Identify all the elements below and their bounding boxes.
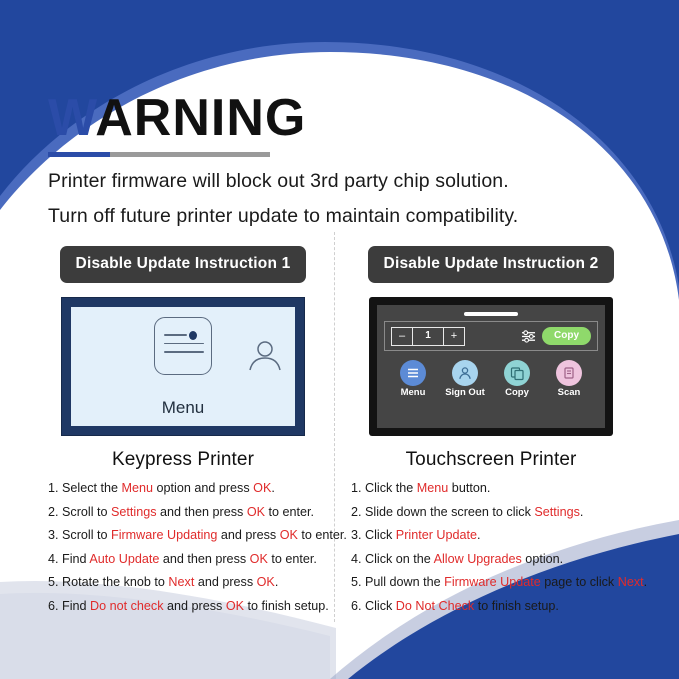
instruction-keyword: OK — [226, 599, 244, 613]
instruction-step: 5. Rotate the knob to Next and press OK. — [48, 576, 318, 589]
menu-lines — [164, 334, 204, 360]
instruction-keyword: OK — [257, 575, 275, 589]
instruction-text: 5. Pull down the — [351, 575, 444, 589]
instruction-keyword: OK — [247, 505, 265, 519]
instruction-step: 3. Scroll to Firmware Updating and press… — [48, 529, 318, 542]
instruction-step: 4. Find Auto Update and then press OK to… — [48, 553, 318, 566]
touchscreen-topbar: – 1 + — [384, 321, 598, 351]
instruction-keyword: Settings — [111, 505, 157, 519]
app-scan-label: Scan — [545, 388, 593, 398]
instruction-text: button. — [448, 481, 490, 495]
app-sign-out[interactable]: Sign Out — [441, 360, 489, 398]
sliders-icon[interactable] — [521, 329, 536, 343]
instruction-keyword: Allow Upgrades — [434, 552, 522, 566]
instruction-keyword: Next — [168, 575, 194, 589]
copy-pages-icon — [510, 366, 525, 381]
instruction-text: . — [580, 505, 584, 519]
instruction-text: to finish setup. — [474, 599, 559, 613]
scan-circle[interactable] — [556, 360, 582, 386]
app-copy[interactable]: Copy — [493, 360, 541, 398]
copy-count-stepper[interactable]: – 1 + — [391, 327, 465, 346]
instruction-keyword: Next — [618, 575, 644, 589]
keypress-screen: Menu — [71, 307, 295, 426]
instruction-text: page to click — [541, 575, 618, 589]
instruction-text: 1. Select the — [48, 481, 122, 495]
lead-line-1: Printer firmware will block out 3rd part… — [48, 170, 648, 193]
instruction-text: to enter. — [265, 505, 314, 519]
lead-line-2: Turn off future printer update to mainta… — [48, 205, 648, 228]
caption-keypress: Keypress Printer — [48, 449, 318, 471]
instruction-keyword: Settings — [534, 505, 580, 519]
app-menu-label: Menu — [389, 388, 437, 398]
grab-handle[interactable] — [464, 312, 518, 316]
hamburger-icon — [406, 367, 420, 379]
column-touchscreen: Disable Update Instruction 2 – 1 + — [351, 246, 631, 624]
instruction-text: and press — [217, 528, 279, 542]
instruction-text: 3. Click — [351, 528, 396, 542]
instruction-text: 2. Scroll to — [48, 505, 111, 519]
instruction-keyword: Firmware Update — [444, 575, 541, 589]
warning-poster: WARNING Printer firmware will block out … — [0, 0, 679, 679]
caption-touchscreen: Touchscreen Printer — [351, 449, 631, 471]
app-menu[interactable]: Menu — [389, 360, 437, 398]
instruction-text: 3. Scroll to — [48, 528, 111, 542]
instruction-text: option and press — [153, 481, 253, 495]
instruction-text: and press — [164, 599, 226, 613]
scan-icon — [562, 366, 576, 380]
instruction-step: 5. Pull down the Firmware Update page to… — [351, 576, 631, 589]
instruction-keyword: OK — [253, 481, 271, 495]
column-divider — [334, 232, 335, 622]
instruction-keyword: OK — [280, 528, 298, 542]
touchscreen-app-row: Menu Sign Out — [384, 360, 598, 398]
instruction-text: to enter. — [268, 552, 317, 566]
instruction-text: . — [275, 575, 279, 589]
instruction-step: 6. Click Do Not Check to finish setup. — [351, 600, 631, 613]
instruction-text: option. — [522, 552, 563, 566]
instruction-text: 5. Rotate the knob to — [48, 575, 168, 589]
keypress-printer-illustration: Menu — [61, 297, 305, 436]
page-title: WARNING — [48, 92, 306, 144]
steps-keypress: 1. Select the Menu option and press OK.2… — [48, 482, 318, 613]
column-keypress: Disable Update Instruction 1 Menu Keypre… — [48, 246, 318, 624]
person-icon — [458, 366, 472, 380]
instruction-step: 2. Scroll to Settings and then press OK … — [48, 506, 318, 519]
sign-out-circle[interactable] — [452, 360, 478, 386]
instruction-step: 6. Find Do not check and press OK to fin… — [48, 600, 318, 613]
instruction-text: . — [644, 575, 648, 589]
instruction-text: and then press — [157, 505, 247, 519]
instruction-text: 4. Find — [48, 552, 89, 566]
badge-instruction-2: Disable Update Instruction 2 — [368, 246, 615, 283]
instruction-text: . — [477, 528, 481, 542]
copy-circle[interactable] — [504, 360, 530, 386]
app-sign-out-label: Sign Out — [441, 388, 489, 398]
instruction-step: 2. Slide down the screen to click Settin… — [351, 506, 631, 519]
stepper-minus-button[interactable]: – — [392, 328, 413, 345]
instruction-keyword: Do not check — [90, 599, 164, 613]
instruction-step: 4. Click on the Allow Upgrades option. — [351, 553, 631, 566]
badge-instruction-1: Disable Update Instruction 1 — [60, 246, 307, 283]
person-icon — [248, 341, 282, 371]
title-rule-accent — [48, 152, 110, 157]
page-title-accent: W — [48, 89, 95, 147]
instruction-keyword: Firmware Updating — [111, 528, 217, 542]
instruction-step: 1. Click the Menu button. — [351, 482, 631, 495]
steps-touchscreen: 1. Click the Menu button.2. Slide down t… — [351, 482, 631, 613]
instruction-text: to enter. — [298, 528, 347, 542]
stepper-value: 1 — [413, 328, 443, 345]
instruction-keyword: Menu — [122, 481, 154, 495]
instruction-text: and then press — [159, 552, 249, 566]
instruction-step: 1. Select the Menu option and press OK. — [48, 482, 318, 495]
instruction-text: 2. Slide down the screen to click — [351, 505, 534, 519]
instruction-text: . — [271, 481, 275, 495]
menu-dot-icon — [189, 331, 197, 340]
instruction-keyword: Auto Update — [89, 552, 159, 566]
app-copy-label: Copy — [493, 388, 541, 398]
instruction-text: 1. Click the — [351, 481, 417, 495]
instruction-text: 6. Click — [351, 599, 396, 613]
app-scan[interactable]: Scan — [545, 360, 593, 398]
instruction-keyword: Printer Update — [396, 528, 477, 542]
instruction-text: to finish setup. — [244, 599, 329, 613]
menu-card-icon — [154, 317, 212, 375]
copy-button[interactable]: Copy — [542, 327, 591, 345]
instruction-keyword: Do Not Check — [396, 599, 474, 613]
instruction-keyword: OK — [250, 552, 268, 566]
touchscreen-screen: – 1 + — [377, 305, 605, 428]
instruction-text: 6. Find — [48, 599, 90, 613]
page-title-rest: ARNING — [95, 89, 306, 147]
instruction-text: and press — [194, 575, 256, 589]
menu-circle[interactable] — [400, 360, 426, 386]
touchscreen-printer-illustration: – 1 + — [369, 297, 613, 436]
instruction-keyword: Menu — [417, 481, 449, 495]
stepper-plus-button[interactable]: + — [443, 328, 464, 345]
instruction-step: 3. Click Printer Update. — [351, 529, 631, 542]
keypress-menu-label: Menu — [71, 398, 295, 418]
instruction-text: 4. Click on the — [351, 552, 434, 566]
